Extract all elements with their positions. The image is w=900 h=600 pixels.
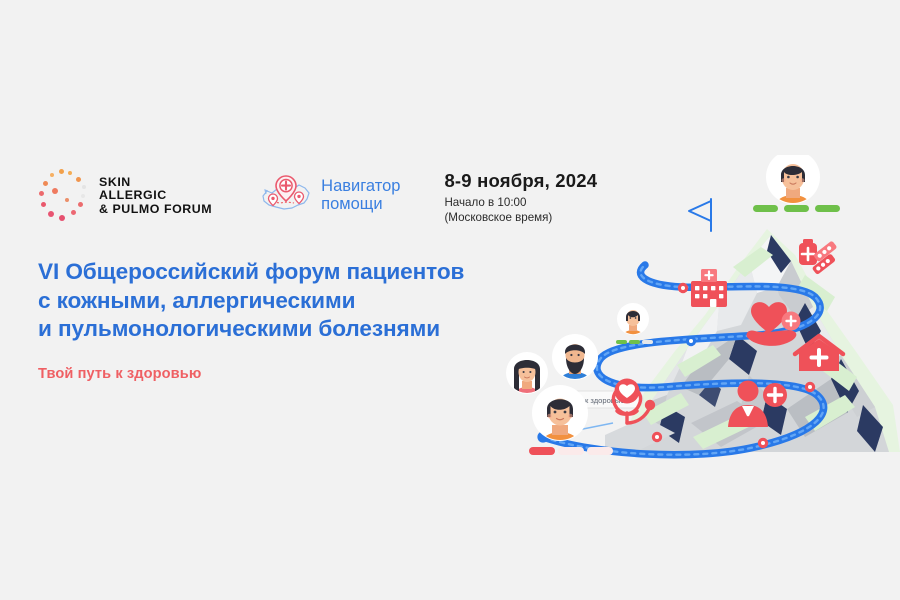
headline-line1: VI Общероссийский форум пациентов: [38, 258, 464, 287]
hospital-icon: [691, 269, 727, 307]
tagline: Твой путь к здоровью: [38, 366, 201, 382]
mountain-path-illustration: путь к здоровью: [505, 155, 900, 460]
base-progress-bar: [529, 447, 613, 455]
navigator-logo-text: Навигатор помощи: [321, 177, 400, 213]
avatar-base-man: [552, 334, 598, 390]
forum-logo-text: SKIN ALLERGIC & PULMO FORUM: [99, 176, 212, 217]
skin-allergic-pulmo-forum-logo[interactable]: SKIN ALLERGIC & PULMO FORUM: [38, 168, 212, 224]
summit-progress-bar: [753, 205, 840, 212]
navigator-pomoshchi-logo[interactable]: Навигатор помощи: [260, 172, 400, 218]
navigator-logo-line1: Навигатор: [321, 177, 400, 195]
avatar-midway: [617, 303, 649, 341]
forum-logo-line1: SKIN: [99, 176, 212, 190]
headline-line3: и пульмонологическими болезнями: [38, 315, 464, 344]
event-banner: SKIN ALLERGIC & PULMO FORUM: [0, 0, 900, 600]
summit-flag-icon: [689, 199, 711, 231]
forum-logo-line3: & PULMO FORUM: [99, 203, 212, 217]
forum-logo-line2: ALLERGIC: [99, 189, 212, 203]
avatar-summit: [766, 155, 820, 213]
russia-map-pin-icon: [260, 172, 312, 218]
headline-line2: с кожными, аллергическими: [38, 287, 464, 316]
midway-progress-bar: [616, 340, 653, 344]
medicine-bottle-icon: [799, 239, 837, 275]
page-title: VI Общероссийский форум пациентов с кожн…: [38, 258, 464, 344]
forum-dots-icon: [38, 168, 90, 224]
navigator-logo-line2: помощи: [321, 195, 400, 213]
